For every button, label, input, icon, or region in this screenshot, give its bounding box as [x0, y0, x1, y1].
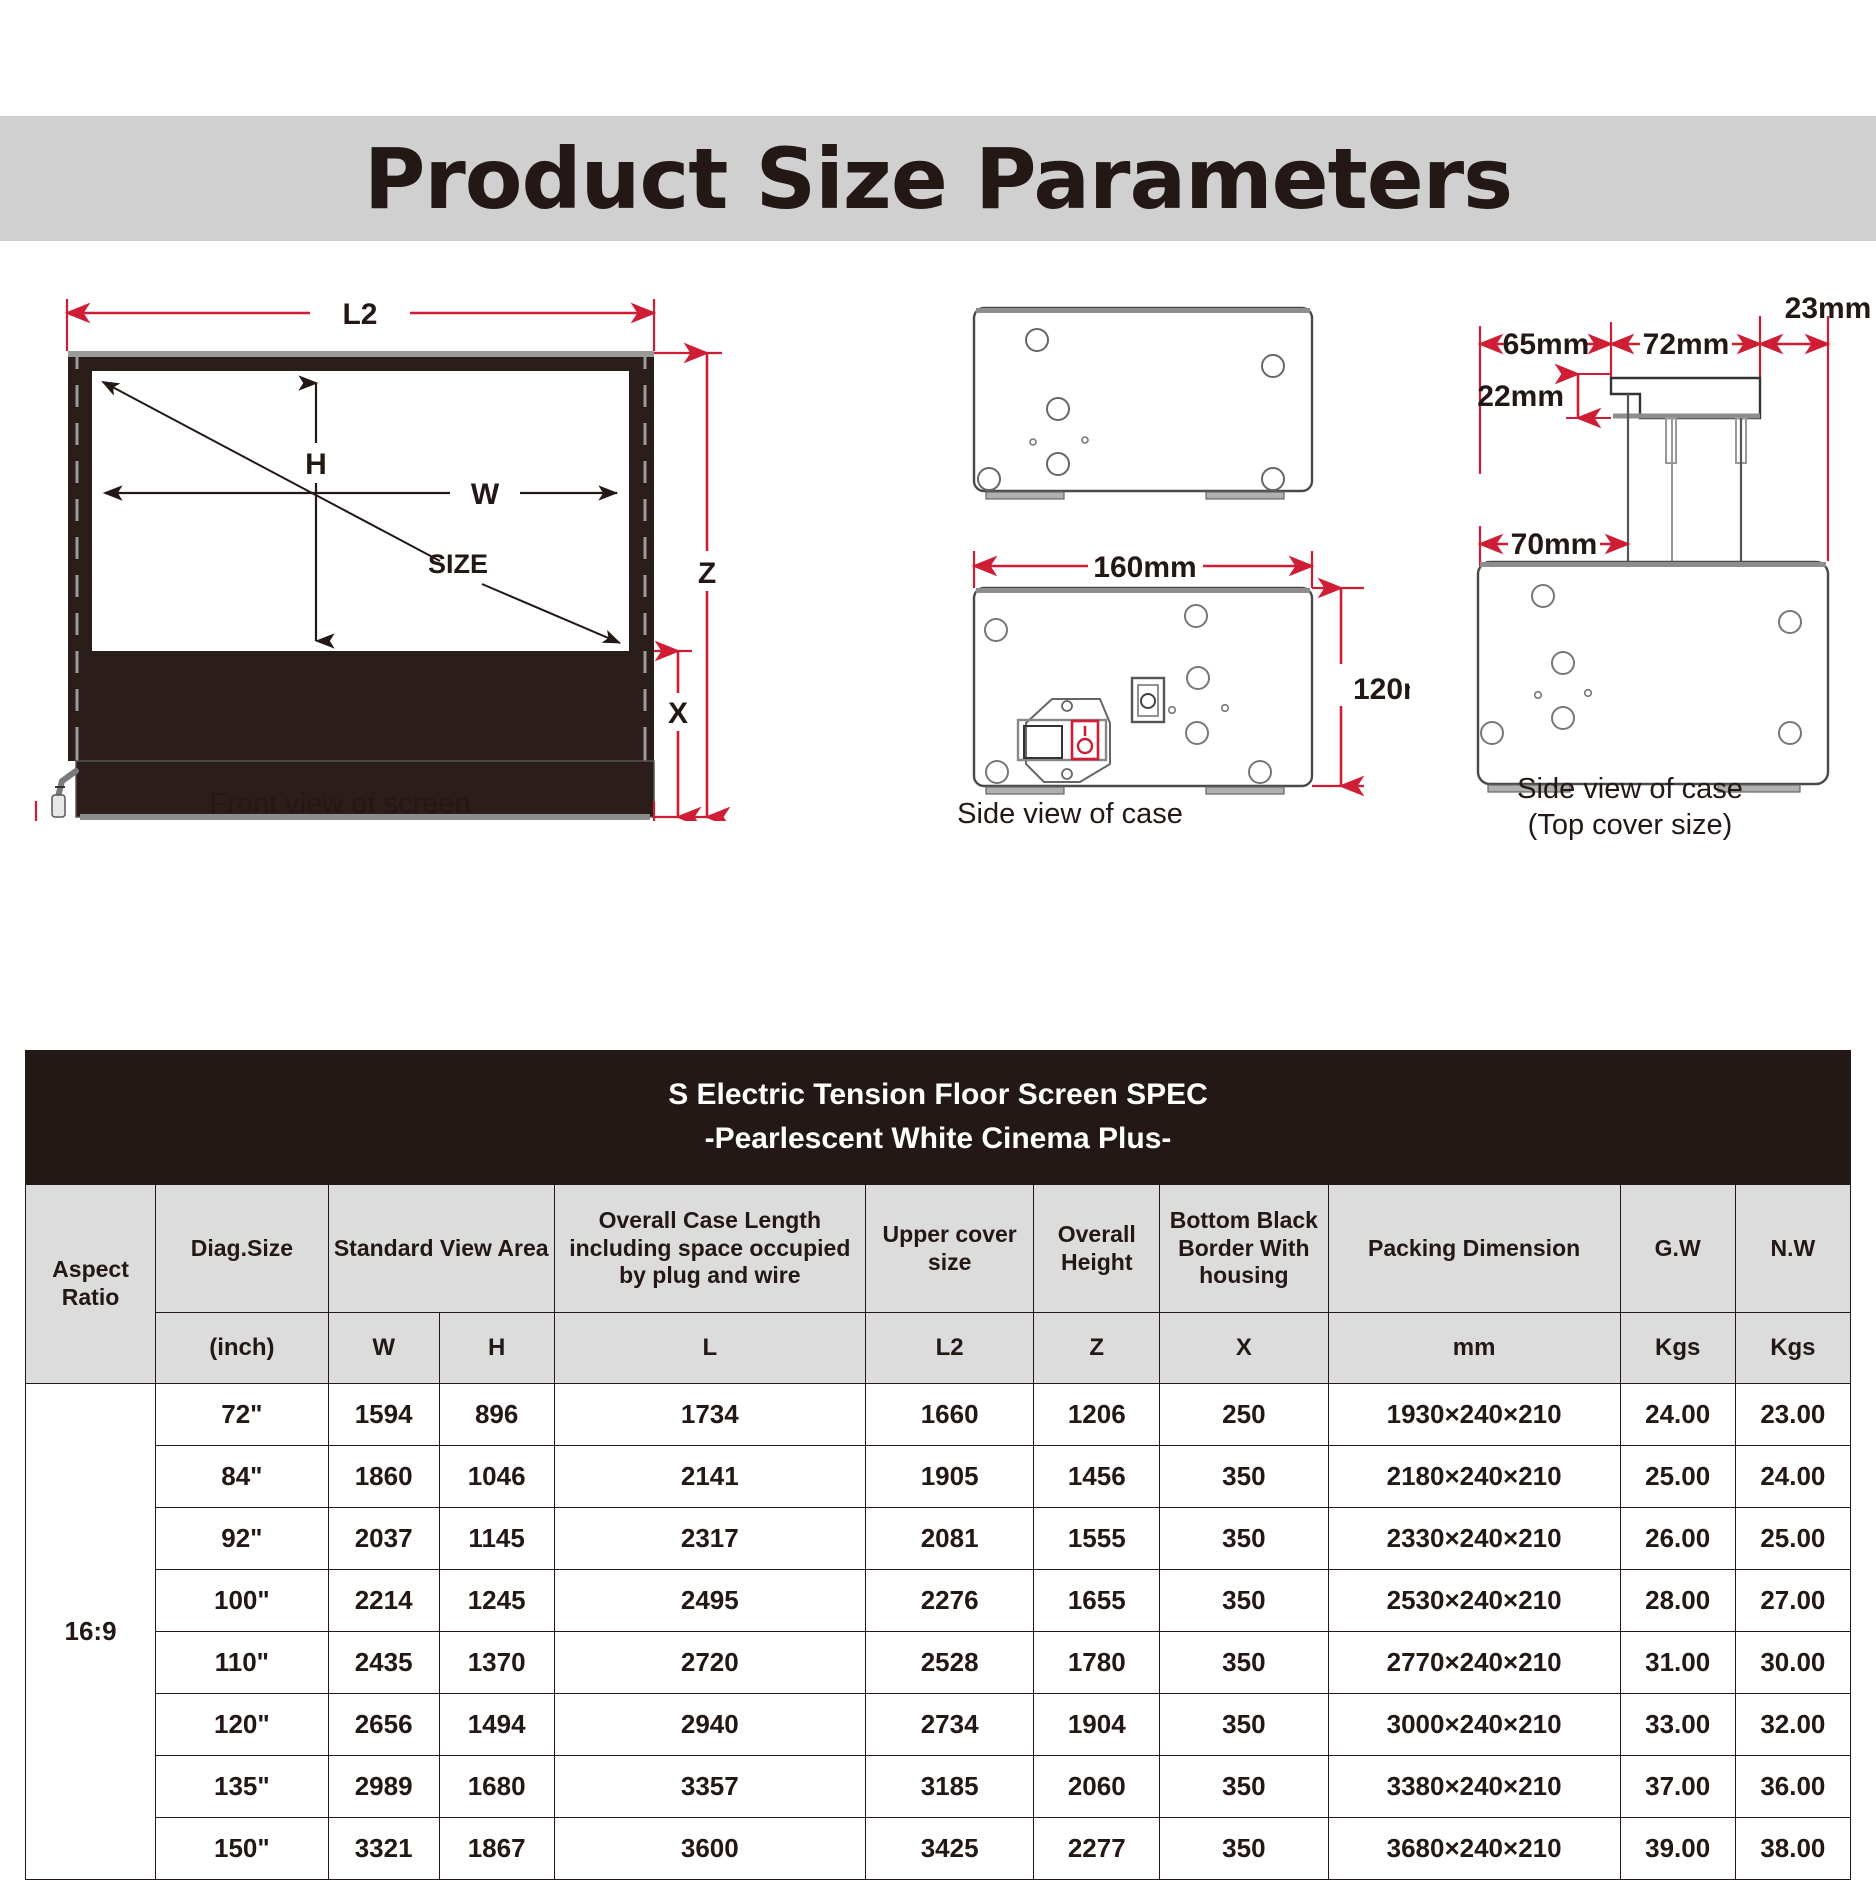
cell-diag: 120" — [156, 1694, 329, 1756]
unit-z: Z — [1034, 1313, 1160, 1384]
cell-l2: 2081 — [865, 1508, 1033, 1570]
cell-diag: 150" — [156, 1818, 329, 1880]
label-120mm: 120mm — [1353, 673, 1410, 706]
cell-packing: 2530×240×210 — [1328, 1570, 1620, 1632]
dimension-22mm: 22mm — [1477, 374, 1611, 418]
front-view-caption: Front view of screen — [130, 786, 550, 822]
cell-diag: 110" — [156, 1632, 329, 1694]
title-banner: Product Size Parameters — [0, 116, 1876, 241]
cell-packing: 3380×240×210 — [1328, 1756, 1620, 1818]
table-row: 100" 2214 1245 2495 2276 1655 350 2530×2… — [26, 1570, 1851, 1632]
cell-diag: 92" — [156, 1508, 329, 1570]
cell-h: 1046 — [439, 1446, 554, 1508]
cell-x: 350 — [1160, 1446, 1328, 1508]
label-22mm: 22mm — [1477, 380, 1564, 413]
label-x: X — [668, 697, 688, 730]
unit-l: L — [554, 1313, 865, 1384]
cell-nw: 25.00 — [1735, 1508, 1850, 1570]
table-title-line1: S Electric Tension Floor Screen SPEC — [26, 1073, 1850, 1117]
cell-l2: 3185 — [865, 1756, 1033, 1818]
cell-z: 1206 — [1034, 1384, 1160, 1446]
cell-packing: 1930×240×210 — [1328, 1384, 1620, 1446]
cell-h: 1867 — [439, 1818, 554, 1880]
header-bottom-black-border: Bottom Black Border With housing — [1160, 1185, 1328, 1313]
label-23mm: 23mm — [1785, 296, 1870, 325]
header-upper-cover-size: Upper cover size — [865, 1185, 1033, 1313]
cell-packing: 3680×240×210 — [1328, 1818, 1620, 1880]
cell-l: 1734 — [554, 1384, 865, 1446]
unit-diag-size: (inch) — [156, 1313, 329, 1384]
label-h: H — [305, 448, 327, 481]
table-row: 150" 3321 1867 3600 3425 2277 350 3680×2… — [26, 1818, 1851, 1880]
front-view-diagram: L2 — [10, 261, 810, 821]
cell-gw: 39.00 — [1620, 1818, 1735, 1880]
diagram-area: L2 — [0, 241, 1876, 1041]
cell-l2: 2276 — [865, 1570, 1033, 1632]
table-row: 92" 2037 1145 2317 2081 1555 350 2330×24… — [26, 1508, 1851, 1570]
cell-x: 350 — [1160, 1756, 1328, 1818]
spec-table: S Electric Tension Floor Screen SPEC -Pe… — [25, 1050, 1851, 1880]
cell-l: 2141 — [554, 1446, 865, 1508]
label-65mm: 65mm — [1503, 328, 1590, 361]
cell-l: 2495 — [554, 1570, 865, 1632]
header-diag-size: Diag.Size — [156, 1185, 329, 1313]
power-plug-icon — [52, 771, 76, 817]
cell-w: 3321 — [328, 1818, 439, 1880]
cell-packing: 2330×240×210 — [1328, 1508, 1620, 1570]
label-z: Z — [698, 557, 716, 590]
cell-gw: 26.00 — [1620, 1508, 1735, 1570]
cell-nw: 24.00 — [1735, 1446, 1850, 1508]
label-72mm: 72mm — [1643, 328, 1730, 361]
header-standard-view-area: Standard View Area — [328, 1185, 554, 1313]
cell-l2: 2528 — [865, 1632, 1033, 1694]
cell-l: 3357 — [554, 1756, 865, 1818]
cell-h: 1245 — [439, 1570, 554, 1632]
unit-packing: mm — [1328, 1313, 1620, 1384]
cell-x: 350 — [1160, 1694, 1328, 1756]
cell-gw: 31.00 — [1620, 1632, 1735, 1694]
cell-x: 250 — [1160, 1384, 1328, 1446]
top-cover-case-body — [1478, 562, 1828, 792]
cell-diag: 100" — [156, 1570, 329, 1632]
cell-w: 2435 — [328, 1632, 439, 1694]
side-view-case-diagram: 160mm — [960, 296, 1410, 856]
cell-nw: 23.00 — [1735, 1384, 1850, 1446]
cell-w: 2214 — [328, 1570, 439, 1632]
case-lower-outline — [974, 588, 1312, 794]
cell-z: 1456 — [1034, 1446, 1160, 1508]
dimension-l2: L2 — [67, 298, 654, 351]
header-gw: G.W — [1620, 1185, 1735, 1313]
top-cover-caption-line2: (Top cover size) — [1528, 809, 1733, 841]
cell-x: 350 — [1160, 1508, 1328, 1570]
bottom-black-border — [68, 651, 654, 761]
cell-h: 1494 — [439, 1694, 554, 1756]
top-cover-caption: Side view of case (Top cover size) — [1400, 771, 1860, 844]
table-row: 110" 2435 1370 2720 2528 1780 350 2770×2… — [26, 1632, 1851, 1694]
cell-gw: 37.00 — [1620, 1756, 1735, 1818]
cell-h: 896 — [439, 1384, 554, 1446]
unit-h: H — [439, 1313, 554, 1384]
cell-nw: 30.00 — [1735, 1632, 1850, 1694]
table-row: 120" 2656 1494 2940 2734 1904 350 3000×2… — [26, 1694, 1851, 1756]
cell-nw: 27.00 — [1735, 1570, 1850, 1632]
cell-nw: 32.00 — [1735, 1694, 1850, 1756]
cell-l: 2940 — [554, 1694, 865, 1756]
cell-nw: 38.00 — [1735, 1818, 1850, 1880]
header-aspect-ratio: Aspect Ratio — [26, 1185, 156, 1384]
cell-l2: 2734 — [865, 1694, 1033, 1756]
case-upper-outline — [974, 308, 1312, 499]
dimension-23mm: 23mm — [1760, 296, 1870, 344]
cell-l: 2317 — [554, 1508, 865, 1570]
dimension-65mm: 65mm — [1480, 328, 1611, 361]
dimension-70mm: 70mm — [1480, 526, 1628, 566]
dimension-120mm: 120mm — [1312, 588, 1410, 786]
page-title: Product Size Parameters — [0, 116, 1876, 241]
cell-gw: 25.00 — [1620, 1446, 1735, 1508]
unit-l2: L2 — [865, 1313, 1033, 1384]
cell-l: 2720 — [554, 1632, 865, 1694]
table-row: 84" 1860 1046 2141 1905 1456 350 2180×24… — [26, 1446, 1851, 1508]
label-160mm: 160mm — [1093, 551, 1196, 584]
cell-x: 350 — [1160, 1818, 1328, 1880]
side-view-case-caption: Side view of case — [860, 796, 1280, 832]
cell-h: 1680 — [439, 1756, 554, 1818]
top-cover-profile — [1611, 378, 1760, 561]
cell-z: 2277 — [1034, 1818, 1160, 1880]
dimension-160mm: 160mm — [974, 551, 1312, 588]
cell-z: 2060 — [1034, 1756, 1160, 1818]
cell-l2: 1660 — [865, 1384, 1033, 1446]
header-packing-dimension: Packing Dimension — [1328, 1185, 1620, 1313]
label-size: SIZE — [428, 549, 488, 579]
unit-nw: Kgs — [1735, 1313, 1850, 1384]
table-title: S Electric Tension Floor Screen SPEC -Pe… — [26, 1051, 1851, 1185]
dimension-72mm: 72mm — [1611, 328, 1760, 361]
cell-gw: 24.00 — [1620, 1384, 1735, 1446]
header-nw: N.W — [1735, 1185, 1850, 1313]
header-overall-case-length: Overall Case Length including space occu… — [554, 1185, 865, 1313]
cell-z: 1655 — [1034, 1570, 1160, 1632]
cell-w: 1594 — [328, 1384, 439, 1446]
cell-diag: 72" — [156, 1384, 329, 1446]
dimension-x: X — [654, 651, 692, 817]
cell-w: 2037 — [328, 1508, 439, 1570]
label-70mm: 70mm — [1511, 528, 1598, 561]
cell-aspect-ratio: 16:9 — [26, 1384, 156, 1880]
label-w: W — [471, 478, 500, 511]
cell-nw: 36.00 — [1735, 1756, 1850, 1818]
table-title-line2: -Pearlescent White Cinema Plus- — [26, 1117, 1850, 1161]
label-l2: L2 — [342, 298, 377, 331]
screen-viewing-area — [92, 371, 629, 651]
top-cover-caption-line1: Side view of case — [1517, 773, 1743, 805]
cell-z: 1555 — [1034, 1508, 1160, 1570]
table-row: 135" 2989 1680 3357 3185 2060 350 3380×2… — [26, 1756, 1851, 1818]
unit-x: X — [1160, 1313, 1328, 1384]
cell-l2: 1905 — [865, 1446, 1033, 1508]
header-overall-height: Overall Height — [1034, 1185, 1160, 1313]
cell-z: 1904 — [1034, 1694, 1160, 1756]
cell-w: 1860 — [328, 1446, 439, 1508]
dimension-z: Z — [654, 353, 722, 817]
cell-h: 1145 — [439, 1508, 554, 1570]
cell-packing: 3000×240×210 — [1328, 1694, 1620, 1756]
cell-l2: 3425 — [865, 1818, 1033, 1880]
cell-packing: 2180×240×210 — [1328, 1446, 1620, 1508]
cell-diag: 84" — [156, 1446, 329, 1508]
cell-diag: 135" — [156, 1756, 329, 1818]
cell-gw: 28.00 — [1620, 1570, 1735, 1632]
unit-gw: Kgs — [1620, 1313, 1735, 1384]
cell-w: 2656 — [328, 1694, 439, 1756]
cell-l: 3600 — [554, 1818, 865, 1880]
cell-x: 350 — [1160, 1632, 1328, 1694]
cell-z: 1780 — [1034, 1632, 1160, 1694]
table-row: 16:9 72" 1594 896 1734 1660 1206 250 193… — [26, 1384, 1851, 1446]
cell-x: 350 — [1160, 1570, 1328, 1632]
cell-packing: 2770×240×210 — [1328, 1632, 1620, 1694]
cell-h: 1370 — [439, 1632, 554, 1694]
cell-gw: 33.00 — [1620, 1694, 1735, 1756]
cell-w: 2989 — [328, 1756, 439, 1818]
unit-w: W — [328, 1313, 439, 1384]
